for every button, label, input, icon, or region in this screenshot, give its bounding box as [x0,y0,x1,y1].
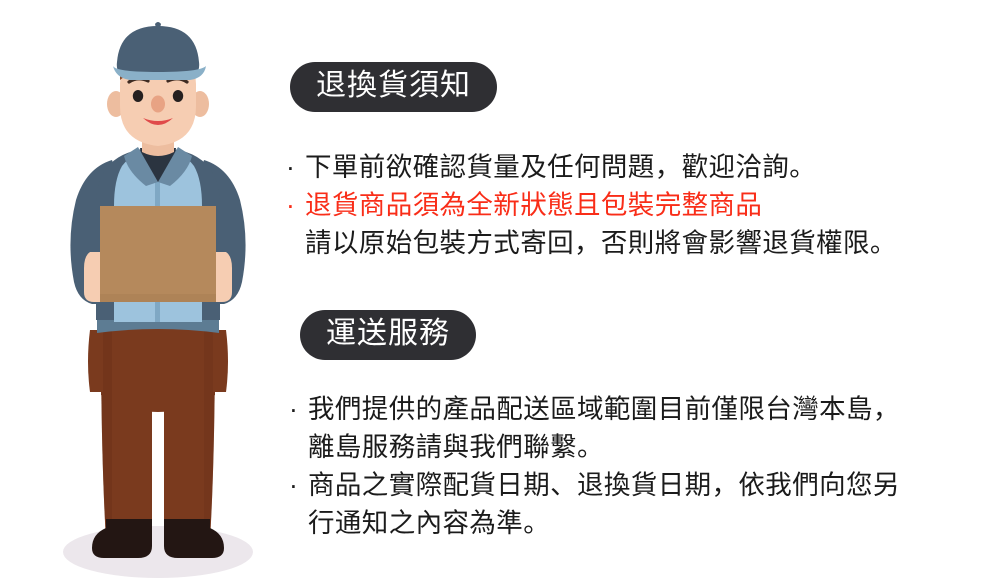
bullet-dot-icon: · [286,148,295,186]
section-badge-shipping: 運送服務 [300,310,476,360]
eye-left [133,90,143,102]
ground-shadow-ellipse [63,526,253,578]
bullet-dot-icon: · [289,390,298,428]
list-item-line: 商品之實際配貨日期、退換貨日期，依我們向您另 [308,466,1000,504]
list-item-line: 下單前欲確認貨量及任何問題，歡迎洽詢。 [305,148,1000,186]
pants-pocket-right [213,330,228,392]
shoe-right [164,519,224,558]
page-root: 退換貨須知 · 下單前欲確認貨量及任何問題，歡迎洽詢。 · 退貨商品須為全新狀態… [0,0,1000,588]
eye-right [173,90,183,102]
pants-pocket-left [88,330,103,392]
list-item: · 下單前欲確認貨量及任何問題，歡迎洽詢。 [283,148,1000,186]
nose [151,96,165,113]
list-item: · 商品之實際配貨日期、退換貨日期，依我們向您另 行通知之內容為準。 [286,466,1000,542]
bullet-dot-icon: · [286,186,295,224]
pants-crotch [101,325,215,412]
list-item-line: 行通知之內容為準。 [308,504,1000,542]
cardboard-box [100,206,216,302]
shoe-left [92,519,152,558]
list-item: · 我們提供的產品配送區域範圍目前僅限台灣本島， 離島服務請與我們聯繫。 [286,390,1000,466]
list-item-line: 退貨商品須為全新狀態且包裝完整商品 [305,186,1000,224]
list-item-line: 離島服務請與我們聯繫。 [308,428,1000,466]
section-badge-returns: 退換貨須知 [290,62,497,112]
bullet-dot-icon: · [289,466,298,504]
list-item-line: 請以原始包裝方式寄回，否則將會影響退貨權限。 [305,224,1000,262]
list-item-line: 我們提供的產品配送區域範圍目前僅限台灣本島， [308,390,1000,428]
shipping-bullet-list: · 我們提供的產品配送區域範圍目前僅限台灣本島， 離島服務請與我們聯繫。 · 商… [286,390,1000,542]
content-column: 退換貨須知 · 下單前欲確認貨量及任何問題，歡迎洽詢。 · 退貨商品須為全新狀態… [283,0,1000,588]
list-item-continuation: 請以原始包裝方式寄回，否則將會影響退貨權限。 [283,224,1000,262]
cap-button [155,22,161,28]
cardboard-box-shade [100,294,216,302]
returns-bullet-list: · 下單前欲確認貨量及任何問題，歡迎洽詢。 · 退貨商品須為全新狀態且包裝完整商… [283,148,1000,262]
delivery-person-illustration [0,0,300,588]
cap-crown [117,26,199,74]
list-item-highlighted: · 退貨商品須為全新狀態且包裝完整商品 [283,186,1000,224]
